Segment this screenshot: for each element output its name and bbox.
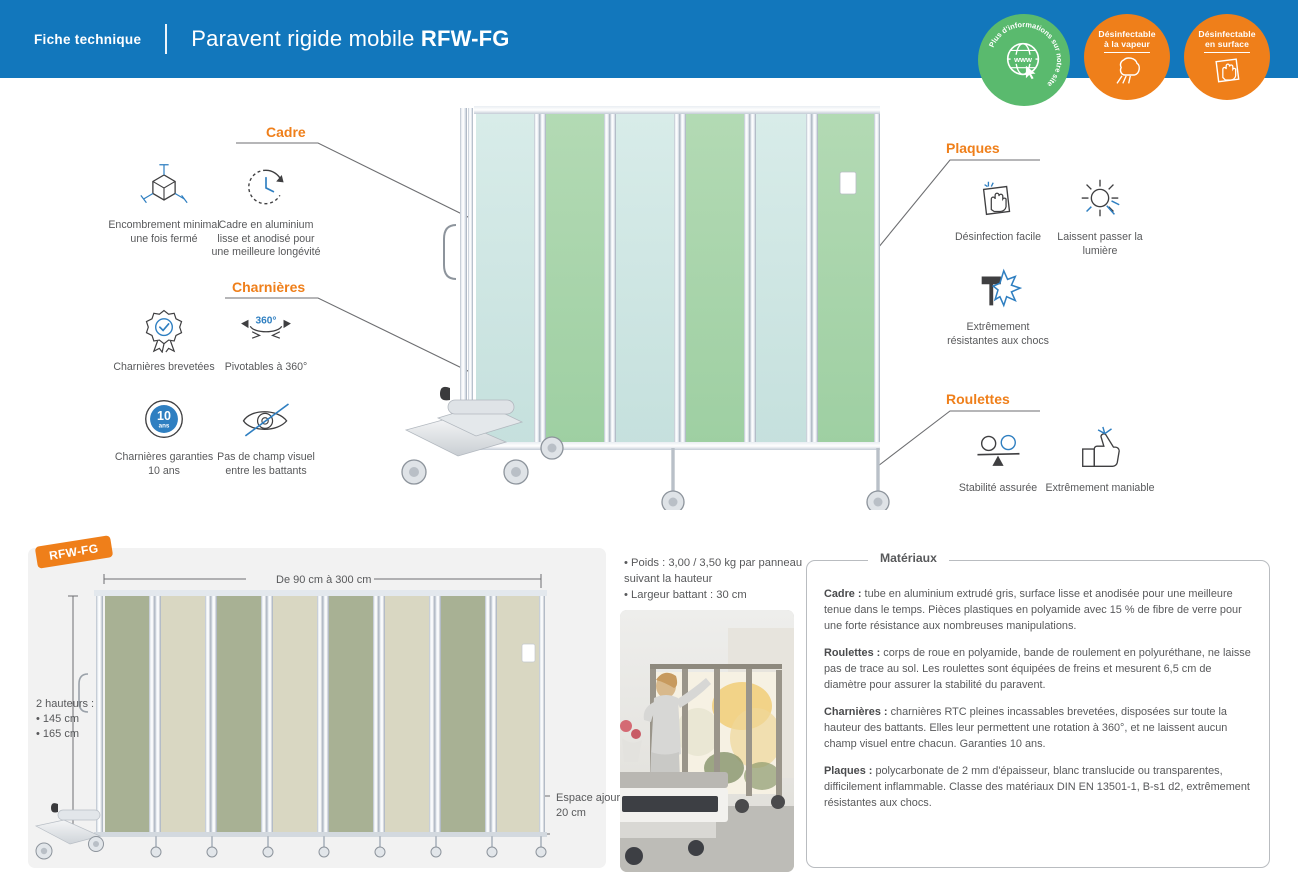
steam-badge-label: Désinfectableà la vapeur	[1091, 29, 1162, 49]
header-divider	[165, 24, 167, 54]
materials-body: Cadre : tube en aluminium extrudé gris, …	[824, 586, 1254, 822]
spec-poids: • Poids : 3,00 / 3,50 kg par panneau sui…	[624, 556, 804, 588]
datasheet-page: Fiche technique Paravent rigide mobile R…	[0, 0, 1298, 884]
sun-light-icon	[1044, 172, 1156, 226]
feature-stabilite: Stabilité assurée	[942, 423, 1054, 496]
feature-maniable-caption: Extrêmement maniable	[1044, 482, 1156, 496]
feature-maniable: Extrêmement maniable	[1044, 423, 1156, 496]
ten-years-number: 10	[157, 409, 171, 423]
cube-dimension-icon	[108, 160, 220, 214]
feature-cadre-alu-caption: Cadre en aluminium lisse et anodisé pour…	[210, 219, 322, 260]
diagram-panel-group	[79, 590, 547, 837]
no-visual-field-icon	[210, 392, 322, 446]
hand-wipe-icon	[1211, 55, 1243, 85]
clock-rotate-icon	[210, 160, 322, 214]
feature-resistantes-chocs: Extrêmement résistantes aux chocs	[942, 262, 1054, 348]
steam-disinfect-badge[interactable]: Désinfectableà la vapeur	[1084, 14, 1170, 100]
feature-charnieres-brevetees-caption: Charnières brevetées	[108, 361, 220, 375]
website-badge[interactable]: Plus d'informations sur notre site www	[978, 14, 1070, 106]
section-label-cadre: Cadre	[266, 124, 306, 140]
header-kicker: Fiche technique	[34, 32, 141, 47]
brake-pedal	[440, 387, 450, 401]
feature-encombrement-caption: Encombrement minimal une fois fermé	[108, 219, 220, 246]
steam-badge-rule	[1104, 52, 1150, 53]
feature-desinfection-facile: Désinfection facile	[942, 172, 1054, 245]
page-title: Paravent rigide mobile RFW-FG	[191, 26, 509, 52]
balance-stability-icon	[942, 423, 1054, 477]
feature-pivotables-360-caption: Pivotables à 360°	[210, 361, 322, 375]
product-handle	[444, 225, 456, 279]
specs-list: • Poids : 3,00 / 3,50 kg par panneau sui…	[624, 556, 804, 604]
surface-badge-label: Désinfectableen surface	[1191, 29, 1262, 49]
steam-cloth-icon	[1110, 55, 1144, 85]
feature-laisse-lumiere: Laissent passer la lumière	[1044, 172, 1156, 258]
feature-pivotables-360: 360° Pivotables à 360°	[210, 302, 322, 375]
product-label-plate	[840, 172, 856, 194]
material-item-roulettes: Roulettes : corps de roue en polyamide, …	[824, 645, 1254, 693]
material-item-cadre: Cadre : tube en aluminium extrudé gris, …	[824, 586, 1254, 634]
feature-laisse-lumiere-caption: Laissent passer la lumière	[1044, 231, 1156, 258]
section-label-roulettes: Roulettes	[946, 391, 1010, 407]
thumb-up-icon	[1044, 423, 1156, 477]
svg-text:Plus d'informations sur notre: Plus d'informations sur notre site	[987, 20, 1064, 89]
width-dimension-label: De 90 cm à 300 cm	[276, 574, 371, 586]
surface-disinfect-badge[interactable]: Désinfectableen surface	[1184, 14, 1270, 100]
material-item-plaques: Plaques : polycarbonate de 2 mm d'épaiss…	[824, 763, 1254, 811]
spec-largeur: • Largeur battant : 30 cm	[624, 588, 804, 604]
ten-years-icon: 10 ans	[108, 392, 220, 446]
feature-desinfection-facile-caption: Désinfection facile	[942, 231, 1054, 245]
page-title-code: RFW-FG	[421, 26, 510, 51]
header-corner-notch	[0, 78, 14, 92]
feature-cadre-alu: Cadre en aluminium lisse et anodisé pour…	[210, 160, 322, 260]
diagram-legs	[156, 836, 541, 848]
ten-years-unit: ans	[159, 423, 170, 430]
rotate-360-label: 360°	[256, 315, 277, 326]
feature-stabilite-caption: Stabilité assurée	[942, 482, 1054, 496]
panel-group	[476, 108, 880, 448]
feature-garantie-10ans: 10 ans Charnières garanties 10 ans	[108, 392, 220, 478]
product-illustration-main	[388, 100, 900, 510]
application-photo	[620, 610, 794, 872]
section-label-plaques: Plaques	[946, 140, 1000, 156]
materials-title: Matériaux	[868, 551, 949, 565]
material-item-charnieres: Charnières : charnières RTC pleines inca…	[824, 704, 1254, 752]
height-dimension-label: 2 hauteurs : • 145 cm • 165 cm	[36, 697, 94, 742]
page-title-prefix: Paravent rigide mobile	[191, 26, 421, 51]
dimension-diagram: De 90 cm à 300 cm	[28, 548, 606, 868]
hand-wipe-icon	[942, 172, 1054, 226]
surface-badge-rule	[1204, 52, 1250, 53]
feature-resistantes-chocs-caption: Extrêmement résistantes aux chocs	[942, 321, 1054, 348]
award-check-icon	[108, 302, 220, 356]
badge-group: Plus d'informations sur notre site www D…	[978, 14, 1270, 106]
rotate-360-icon: 360°	[210, 302, 322, 356]
section-label-charnieres: Charnières	[232, 279, 305, 295]
feature-pas-champ-visuel-caption: Pas de champ visuel entre les battants	[210, 451, 322, 478]
feature-pas-champ-visuel: Pas de champ visuel entre les battants	[210, 392, 322, 478]
hammer-impact-icon	[942, 262, 1054, 316]
feature-charnieres-brevetees: Charnières brevetées	[108, 302, 220, 375]
feature-garantie-10ans-caption: Charnières garanties 10 ans	[108, 451, 220, 478]
website-badge-ring-text: Plus d'informations sur notre site	[978, 14, 1070, 106]
feature-encombrement: Encombrement minimal une fois fermé	[108, 160, 220, 246]
